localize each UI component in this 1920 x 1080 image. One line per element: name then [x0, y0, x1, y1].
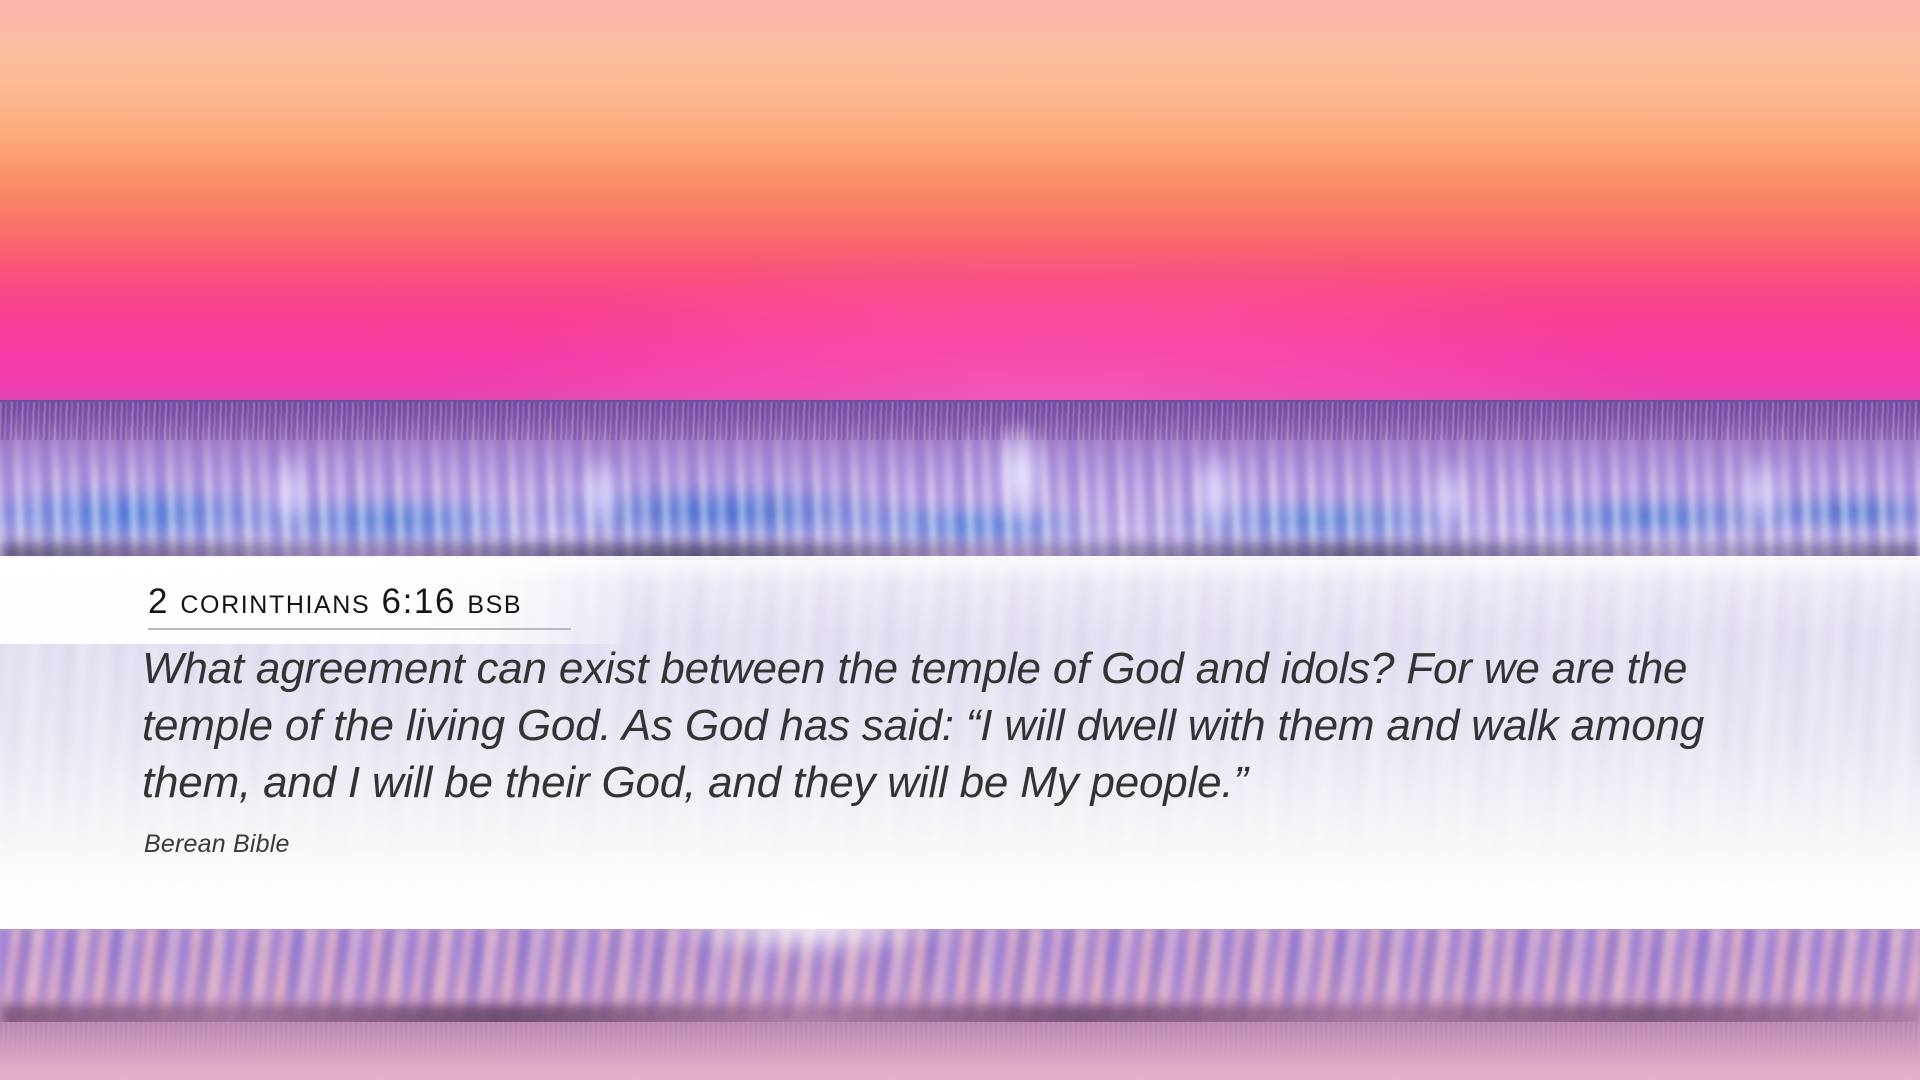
wave-spray-plumes	[0, 415, 1920, 525]
reference-underline	[148, 628, 571, 630]
breaking-wave-group	[0, 415, 1920, 575]
scripture-reference: 2 Corinthians 6:16 BSB	[148, 584, 522, 619]
scripture-attribution: Berean Bible	[144, 830, 290, 859]
sand-grain-texture	[0, 1022, 1920, 1062]
scripture-text-block: 2 Corinthians 6:16 BSB What agreement ca…	[0, 558, 1920, 928]
sky-glow-haze	[0, 0, 1920, 404]
scripture-image-canvas: 2 Corinthians 6:16 BSB What agreement ca…	[0, 0, 1920, 1080]
scripture-quote: What agreement can exist between the tem…	[142, 640, 1782, 811]
